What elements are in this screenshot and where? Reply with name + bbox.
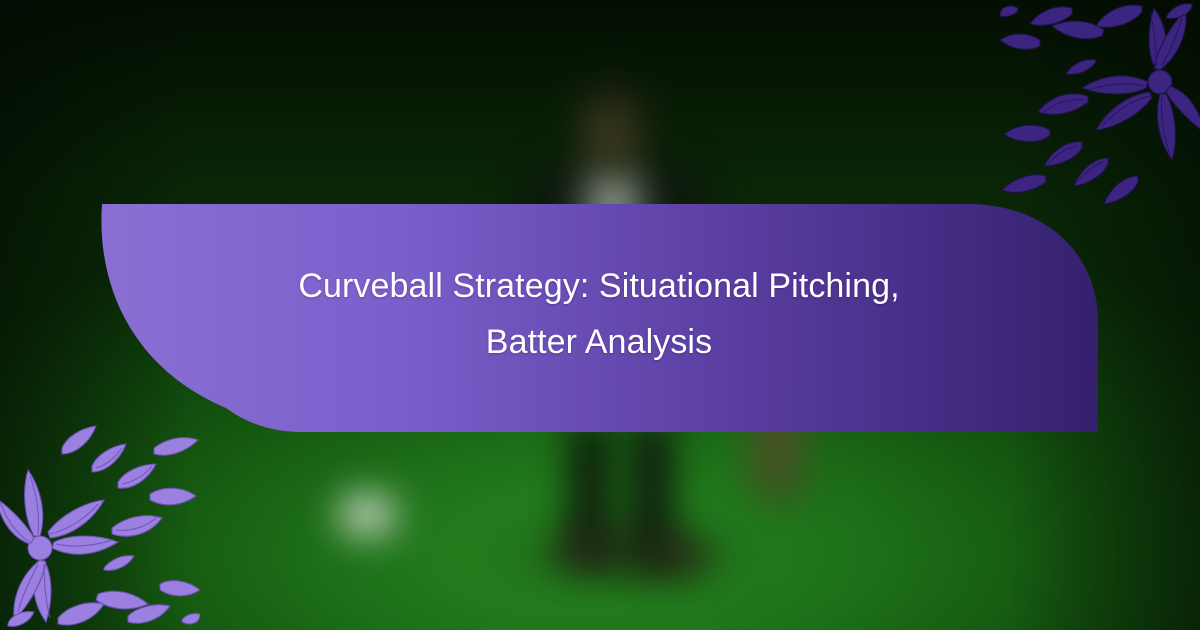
title-banner: Curveball Strategy: Situational Pitching… [96,194,1102,434]
title-line-1: Curveball Strategy: Situational Pitching… [298,258,899,314]
social-share-card: Curveball Strategy: Situational Pitching… [0,0,1200,630]
floral-corner-ornament-bottom-left [0,425,200,630]
floral-corner-ornament-top-right [1000,0,1200,205]
title-block: Curveball Strategy: Situational Pitching… [96,194,1102,434]
title-line-2: Batter Analysis [486,314,712,370]
